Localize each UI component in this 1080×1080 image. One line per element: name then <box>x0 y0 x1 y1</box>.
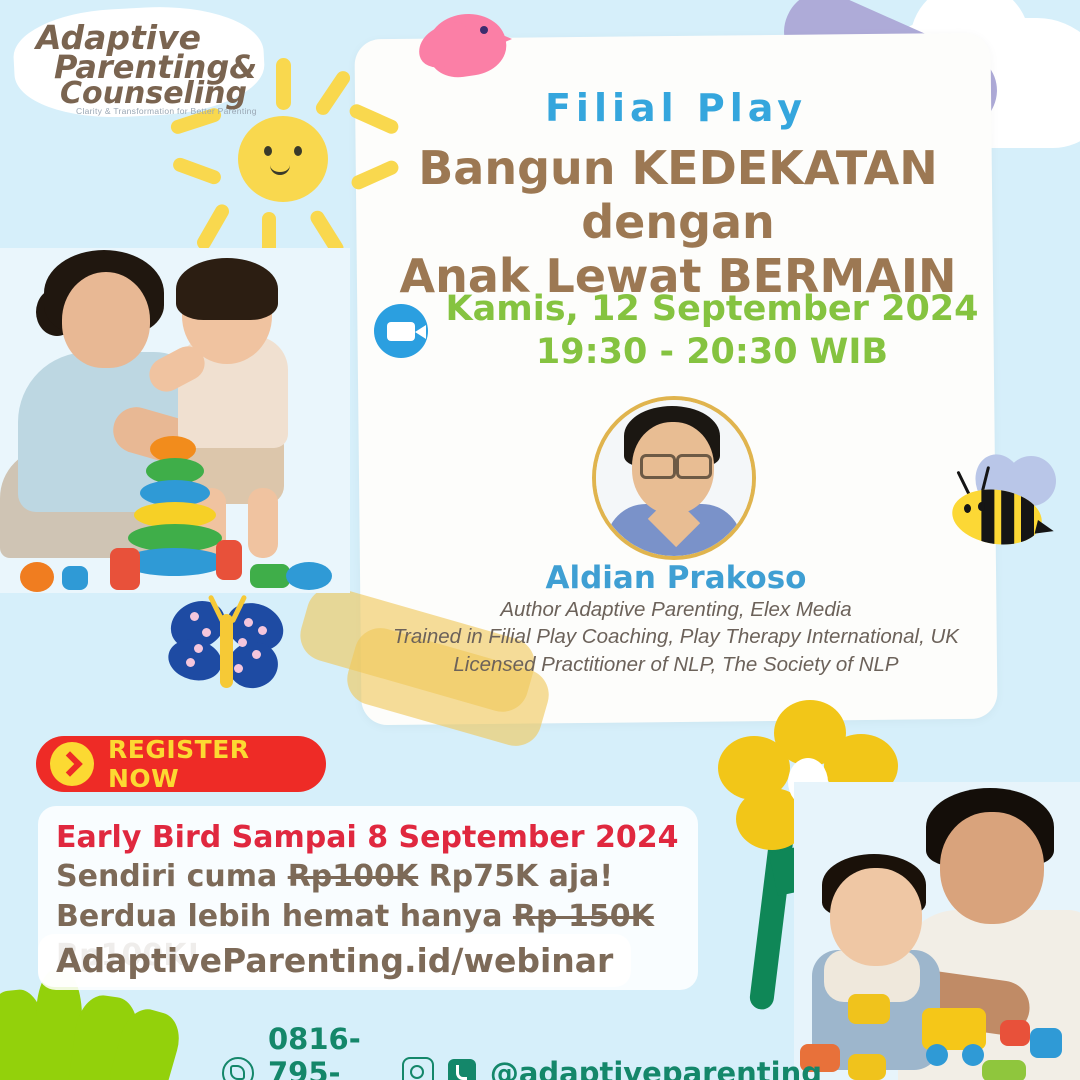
price-duo-old: Rp 150K <box>513 899 654 934</box>
price-solo: Sendiri cuma Rp100K Rp75K aja! <box>56 857 680 897</box>
schedule-text: Kamis, 12 September 2024 19:30 - 20:30 W… <box>446 288 979 375</box>
speaker-credential-line: Licensed Practitioner of NLP, The Societ… <box>348 651 1004 678</box>
price-solo-prefix: Sendiri cuma <box>56 859 288 894</box>
website-url[interactable]: AdaptiveParenting.id/webinar <box>38 934 631 987</box>
headline-line-1: Bangun KEDEKATAN dengan <box>418 141 938 249</box>
social-handle[interactable]: @adaptiveparenting <box>490 1056 822 1080</box>
price-duo-prefix: Berdua lebih hemat hanya <box>56 899 513 934</box>
eyebrow-title: Filial Play <box>358 86 994 130</box>
instagram-icon[interactable] <box>402 1057 434 1080</box>
mother-and-toddler-photo <box>0 248 350 593</box>
zoom-video-icon <box>374 304 428 358</box>
tiktok-icon[interactable] <box>448 1059 476 1080</box>
speaker-name: Aldian Prakoso <box>358 560 994 596</box>
register-button-label: REGISTER NOW <box>108 735 326 793</box>
schedule-date: Kamis, 12 September 2024 <box>446 288 979 331</box>
page-title: Bangun KEDEKATAN dengan Anak Lewat BERMA… <box>368 142 988 303</box>
bird-icon <box>418 6 510 84</box>
whatsapp-icon[interactable] <box>222 1057 254 1080</box>
bee-icon <box>940 448 1058 554</box>
contact-bar: 0816-795-785 @adaptiveparenting <box>222 1022 822 1080</box>
early-bird-deadline: Early Bird Sampai 8 September 2024 <box>56 818 680 857</box>
logo-tagline: Clarity & Transformation for Better Pare… <box>76 106 257 116</box>
speaker-credential-line: Author Adaptive Parenting, Elex Media <box>348 596 1004 623</box>
price-solo-old: Rp100K <box>288 859 418 894</box>
brand-logo[interactable]: Adaptive Parenting& Counseling Clarity &… <box>14 8 264 116</box>
butterfly-icon <box>162 596 292 706</box>
avatar <box>592 396 756 560</box>
schedule-time: 19:30 - 20:30 WIB <box>446 331 979 374</box>
schedule-block: Kamis, 12 September 2024 19:30 - 20:30 W… <box>358 288 994 375</box>
father-and-baby-photo <box>794 782 1080 1080</box>
speaker-credentials: Author Adaptive Parenting, Elex Media Tr… <box>348 596 1004 678</box>
chevron-right-icon <box>50 742 94 786</box>
webinar-flyer: Adaptive Parenting& Counseling Clarity &… <box>0 0 1080 1080</box>
phone-number[interactable]: 0816-795-785 <box>268 1022 366 1080</box>
register-now-button[interactable]: REGISTER NOW <box>36 736 326 792</box>
speaker-credential-line: Trained in Filial Play Coaching, Play Th… <box>348 623 1004 650</box>
price-solo-new: Rp75K aja! <box>418 859 613 894</box>
